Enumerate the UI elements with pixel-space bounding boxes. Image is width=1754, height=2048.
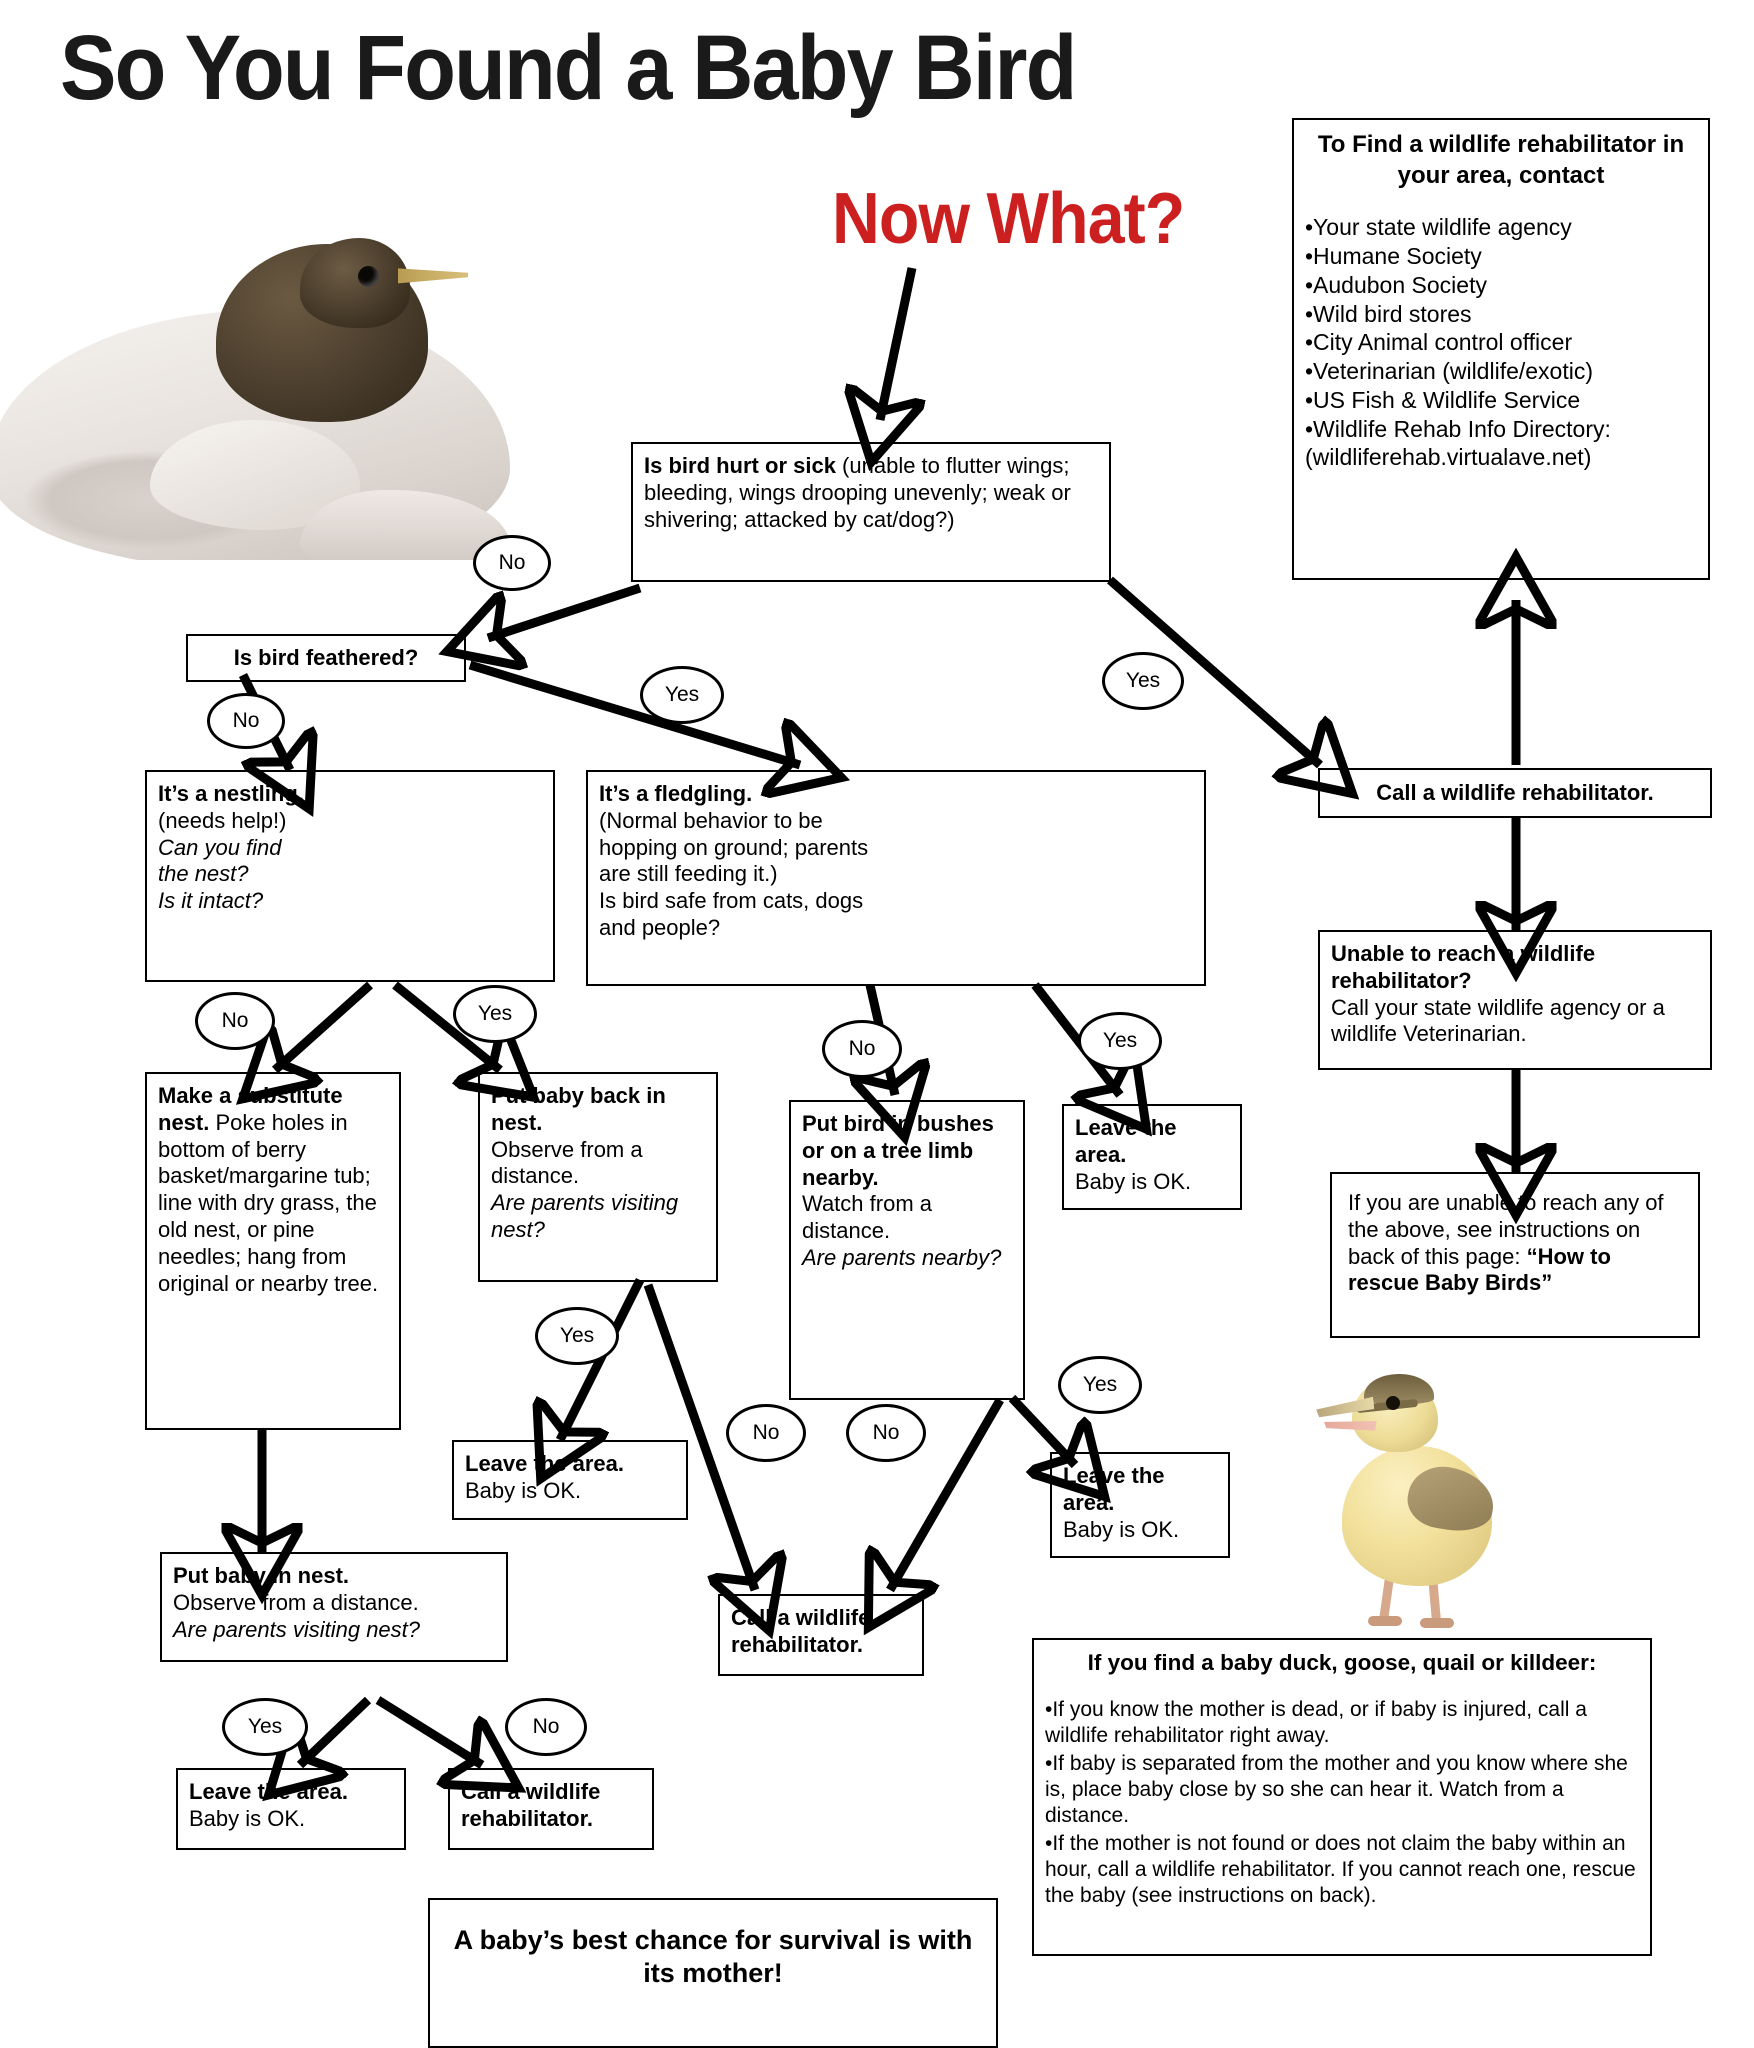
edge-label-putback-no: No xyxy=(726,1404,806,1462)
node-put-baby-in-nest: Put baby in nest. Observe from a distanc… xyxy=(160,1552,508,1662)
photo-hand-holding-bird xyxy=(0,190,520,560)
edge-label-nestling-yes: Yes xyxy=(453,985,537,1043)
node-fledgling-line2: (Normal behavior to be xyxy=(599,808,1193,835)
node-put-baby-back-in-nest: Put baby back in nest. Observe from a di… xyxy=(478,1072,718,1282)
node-feathered-label: Is bird feathered? xyxy=(234,645,419,670)
edge-label-bushes-yes: Yes xyxy=(1058,1356,1142,1414)
list-item: •City Animal control officer xyxy=(1305,328,1697,357)
node-putback-title: Put baby back in nest. xyxy=(491,1083,705,1137)
node-leave-area-bottom: Leave the area. Baby is OK. xyxy=(176,1768,406,1850)
list-item: •Veterinarian (wildlife/exotic) xyxy=(1305,357,1697,386)
page-title: So You Found a Baby Bird xyxy=(60,22,1075,114)
node-leave-bushes-rest: Baby is OK. xyxy=(1063,1517,1217,1544)
duck-panel-list: •If you know the mother is dead, or if b… xyxy=(1045,1697,1639,1909)
node-call-rehab-mid-label: Call a wildlife rehabilitator. xyxy=(731,1605,870,1657)
edge-label-putbaby-no: No xyxy=(505,1698,587,1756)
node-fledgling-line5: Is bird safe from cats, dogs xyxy=(599,888,1193,915)
list-item: •Audubon Society xyxy=(1305,271,1697,300)
node-leave-area-bushes: Leave the area. Baby is OK. xyxy=(1050,1452,1230,1558)
list-item: •Wild bird stores xyxy=(1305,300,1697,329)
node-leave-area-mid: Leave the area. Baby is OK. xyxy=(452,1440,688,1520)
node-best-chance-label: A baby’s best chance for survival is wit… xyxy=(454,1925,973,1988)
node-bushes-plain: Watch from a distance. xyxy=(802,1191,1012,1245)
node-putbaby-italic: Are parents visiting nest? xyxy=(173,1617,495,1644)
node-leave-bushes-title: Leave the area. xyxy=(1063,1463,1217,1517)
contact-panel-heading: To Find a wildlife rehabilitator in your… xyxy=(1305,129,1697,191)
node-nestling-italic3: Is it intact? xyxy=(158,888,542,915)
edge-label-hurt-yes: Yes xyxy=(1102,652,1184,710)
node-call-rehabilitator-mid: Call a wildlife rehabilitator. xyxy=(718,1594,924,1676)
node-leave-fledgling-title: Leave the area. xyxy=(1075,1115,1229,1169)
edge-label-nestling-no: No xyxy=(195,992,275,1050)
list-item: •Your state wildlife agency xyxy=(1305,213,1697,242)
node-putbaby-plain: Observe from a distance. xyxy=(173,1590,495,1617)
edge-label-fledgling-no: No xyxy=(822,1020,902,1078)
node-leave-mid-title: Leave the area. xyxy=(465,1451,675,1478)
edge-label-fledgling-yes: Yes xyxy=(1078,1012,1162,1070)
node-its-a-fledgling: It’s a fledgling. (Normal behavior to be… xyxy=(586,770,1206,986)
edge-label-putbaby-yes: Yes xyxy=(222,1698,308,1756)
list-item: (wildliferehab.virtualave.net) xyxy=(1305,443,1697,472)
node-is-bird-feathered: Is bird feathered? xyxy=(186,634,466,682)
photo-duckling xyxy=(1290,1358,1540,1638)
node-call-rehabilitator-right: Call a wildlife rehabilitator. xyxy=(1318,768,1712,818)
node-leave-area-fledgling: Leave the area. Baby is OK. xyxy=(1062,1104,1242,1210)
list-item: •US Fish & Wildlife Service xyxy=(1305,386,1697,415)
edge-label-feathered-no: No xyxy=(207,693,285,749)
node-bushes-title: Put bird in bushes or on a tree limb nea… xyxy=(802,1111,1012,1191)
node-putback-plain: Observe from a distance. xyxy=(491,1137,705,1191)
duck-panel: If you find a baby duck, goose, quail or… xyxy=(1032,1638,1652,1956)
edge-label-hurt-no: No xyxy=(473,535,551,591)
node-hurt-bold: Is bird hurt or sick xyxy=(644,453,836,478)
duck-panel-heading: If you find a baby duck, goose, quail or… xyxy=(1045,1649,1639,1677)
edge-label-putback-yes: Yes xyxy=(535,1307,619,1365)
node-fledgling-line3: hopping on ground; parents xyxy=(599,835,1193,862)
node-put-bird-in-bushes: Put bird in bushes or on a tree limb nea… xyxy=(789,1100,1025,1400)
node-make-substitute-nest: Make a substitute nest. Poke holes in bo… xyxy=(145,1072,401,1430)
node-leave-bottom-rest: Baby is OK. xyxy=(189,1806,393,1833)
node-call-rehab-right-label: Call a wildlife rehabilitator. xyxy=(1376,780,1654,805)
edge-label-bushes-no: No xyxy=(846,1404,926,1462)
list-item: •If baby is separated from the mother an… xyxy=(1045,1751,1639,1829)
node-unable-rest: Call your state wildlife agency or a wil… xyxy=(1331,995,1699,1049)
node-nestling-italic2: the nest? xyxy=(158,861,542,888)
node-unable-title: Unable to reach a wildlife rehabilitator… xyxy=(1331,941,1699,995)
edge-label-feathered-yes: Yes xyxy=(640,666,724,724)
node-call-rehabilitator-bottom: Call a wildlife rehabilitator. xyxy=(448,1768,654,1850)
page-subtitle: Now What? xyxy=(832,178,1184,260)
node-best-chance: A baby’s best chance for survival is wit… xyxy=(428,1898,998,2048)
node-leave-bottom-title: Leave the area. xyxy=(189,1779,393,1806)
node-putback-italic: Are parents visiting nest? xyxy=(491,1190,705,1244)
contact-list: •Your state wildlife agency •Humane Soci… xyxy=(1305,213,1697,472)
list-item: •If the mother is not found or does not … xyxy=(1045,1831,1639,1909)
node-see-back-instructions: If you are unable to reach any of the ab… xyxy=(1330,1172,1700,1338)
node-is-bird-hurt-or-sick: Is bird hurt or sick (unable to flutter … xyxy=(631,442,1111,582)
node-fledgling-line4: are still feeding it.) xyxy=(599,861,1193,888)
contact-panel: To Find a wildlife rehabilitator in your… xyxy=(1292,118,1710,580)
node-subnest-rest: Poke holes in bottom of berry basket/mar… xyxy=(158,1110,378,1296)
node-its-a-nestling: It’s a nestling. (needs help!) Can you f… xyxy=(145,770,555,982)
node-fledgling-line6: and people? xyxy=(599,915,1193,942)
node-fledgling-title: It’s a fledgling. xyxy=(599,781,1193,808)
infographic-page: So You Found a Baby Bird Now What? xyxy=(0,0,1754,2048)
node-leave-mid-rest: Baby is OK. xyxy=(465,1478,675,1505)
node-call-rehab-bottom-label: Call a wildlife rehabilitator. xyxy=(461,1779,600,1831)
node-nestling-title: It’s a nestling. xyxy=(158,781,542,808)
node-bushes-italic: Are parents nearby? xyxy=(802,1245,1012,1272)
list-item: •If you know the mother is dead, or if b… xyxy=(1045,1697,1639,1749)
node-see-back-pre: If you are unable to reach any of the ab… xyxy=(1348,1190,1664,1269)
node-nestling-italic1: Can you find xyxy=(158,835,542,862)
list-item: •Wildlife Rehab Info Directory: xyxy=(1305,415,1697,444)
list-item: •Humane Society xyxy=(1305,242,1697,271)
node-unable-to-reach: Unable to reach a wildlife rehabilitator… xyxy=(1318,930,1712,1070)
node-putbaby-title: Put baby in nest. xyxy=(173,1563,495,1590)
node-nestling-line2: (needs help!) xyxy=(158,808,542,835)
node-leave-fledgling-rest: Baby is OK. xyxy=(1075,1169,1229,1196)
